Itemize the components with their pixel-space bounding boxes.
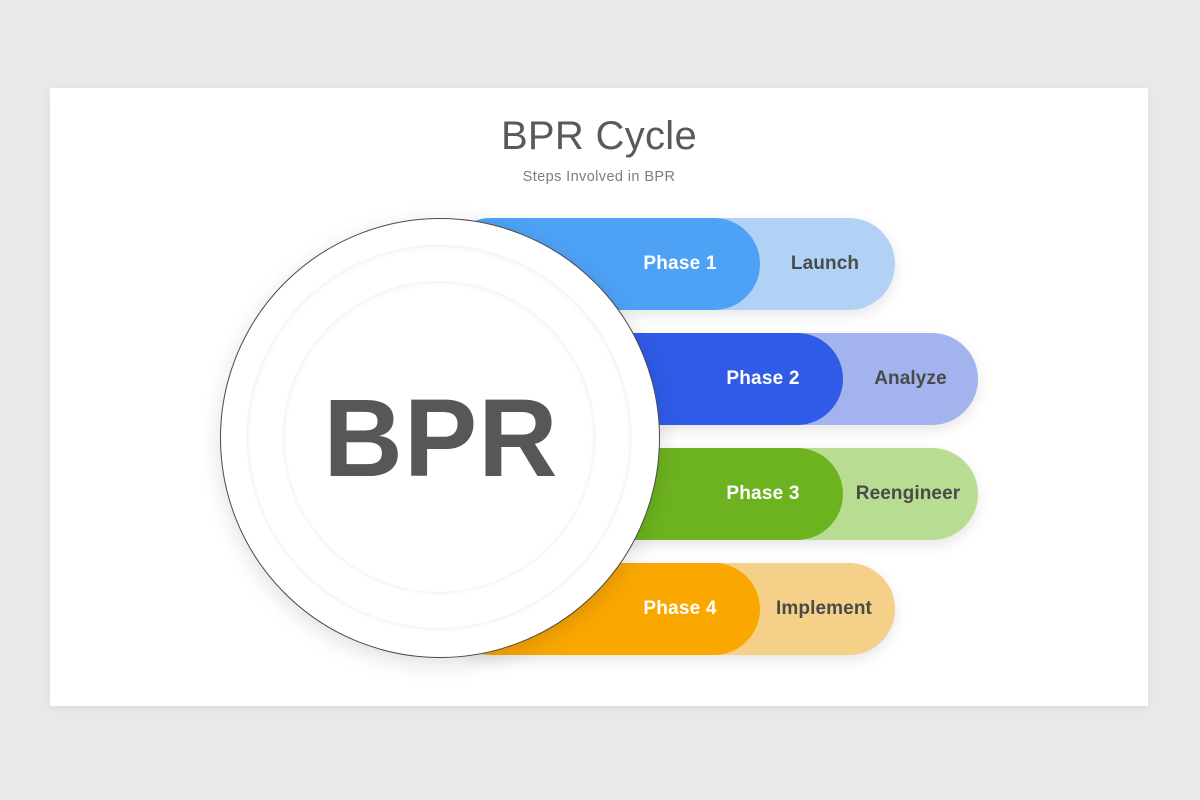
phase-2-label: Analyze (843, 333, 978, 425)
bpr-center-label: BPR (221, 219, 661, 659)
slide-card: BPR Cycle Steps Involved in BPR Phase 1 … (50, 88, 1148, 706)
phase-3-number: Phase 3 (688, 448, 838, 540)
phase-4-label: Implement (753, 563, 895, 655)
phase-2-number: Phase 2 (688, 333, 838, 425)
phase-1-label: Launch (760, 218, 890, 310)
bpr-center-circle[interactable]: BPR (220, 218, 660, 658)
phase-3-label: Reengineer (838, 448, 978, 540)
